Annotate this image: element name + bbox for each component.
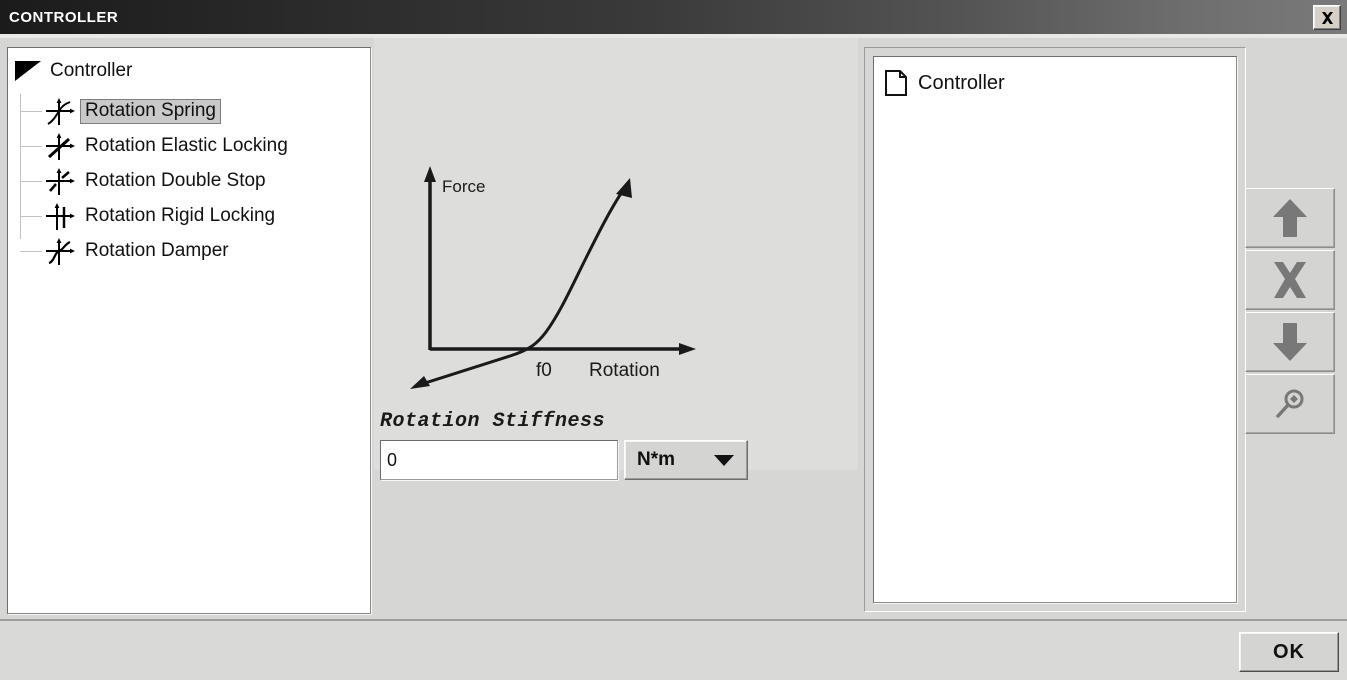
magnifier-icon	[1272, 386, 1308, 422]
move-down-button[interactable]	[1245, 312, 1335, 372]
curve-axis-icon	[42, 167, 76, 197]
x-axis-label: Rotation	[589, 360, 660, 381]
tree-children: Rotation Spring Rotation Elastic Locking	[8, 94, 370, 269]
rotation-stiffness-value: 0	[387, 450, 397, 471]
arrow-down-icon	[1271, 320, 1309, 364]
window-title: CONTROLLER	[0, 9, 118, 26]
ok-button[interactable]: OK	[1239, 632, 1339, 672]
tree-root-node[interactable]: Controller	[14, 58, 132, 84]
tree-item-label: Rotation Elastic Locking	[80, 134, 293, 159]
tree-item-rotation-spring[interactable]: Rotation Spring	[8, 94, 370, 129]
tree-root-label: Controller	[50, 60, 132, 82]
list-item[interactable]: Controller	[874, 57, 1236, 97]
tree-branch-line	[20, 251, 42, 252]
tree-branch-line	[20, 216, 42, 217]
step-axis-icon	[42, 202, 76, 232]
document-icon	[884, 69, 908, 97]
selected-items-list: Controller	[873, 56, 1237, 603]
tree-item-rotation-rigid-locking[interactable]: Rotation Rigid Locking	[8, 199, 370, 234]
list-toolbar	[1245, 188, 1335, 434]
tree-item-label: Rotation Double Stop	[80, 169, 271, 194]
selected-items-group: Controller	[864, 47, 1246, 612]
tree-branch-line	[20, 111, 42, 112]
y-axis-label: Force	[442, 177, 485, 196]
tree-item-rotation-double-stop[interactable]: Rotation Double Stop	[8, 164, 370, 199]
tree-item-label: Rotation Spring	[80, 99, 221, 124]
x-mark-icon	[1270, 260, 1310, 300]
tree-item-rotation-elastic-locking[interactable]: Rotation Elastic Locking	[8, 129, 370, 164]
chevron-down-icon	[713, 454, 735, 467]
dialog-body: Controller Rotation S	[0, 38, 1347, 620]
tree-branch-line	[20, 146, 42, 147]
graph-svg: Force f0 Rotation	[374, 158, 734, 403]
list-item-label: Controller	[918, 72, 1005, 95]
curve-axis-icon	[42, 132, 76, 162]
curve-axis-icon	[42, 237, 76, 267]
zoom-button[interactable]	[1245, 374, 1335, 434]
controller-dialog: CONTROLLER Controller	[0, 0, 1347, 680]
force-rotation-graph: Force f0 Rotation	[374, 158, 734, 403]
tree-item-label: Rotation Damper	[80, 239, 234, 264]
tree-branch-line	[20, 181, 42, 182]
title-bar: CONTROLLER	[0, 0, 1347, 34]
rotation-stiffness-label: Rotation Stiffness	[380, 410, 605, 433]
rotation-stiffness-input[interactable]: 0	[380, 440, 618, 480]
close-x-icon	[1320, 11, 1335, 25]
origin-annotation: f0	[536, 360, 552, 381]
dialog-footer: OK	[0, 621, 1347, 680]
controller-tree-panel: Controller Rotation S	[7, 47, 371, 614]
unit-select-value: N*m	[637, 449, 675, 471]
move-up-button[interactable]	[1245, 188, 1335, 248]
unit-select[interactable]: N*m	[624, 440, 748, 480]
curve-axis-icon	[42, 97, 76, 127]
arrow-up-icon	[1271, 196, 1309, 240]
black-triangle-icon	[14, 60, 42, 82]
tree-item-label: Rotation Rigid Locking	[80, 204, 280, 229]
tree-item-rotation-damper[interactable]: Rotation Damper	[8, 234, 370, 269]
delete-button[interactable]	[1245, 250, 1335, 310]
close-button[interactable]	[1313, 5, 1341, 30]
parameter-panel: Force f0 Rotation Rotation Stiffness 0 N…	[374, 38, 858, 620]
